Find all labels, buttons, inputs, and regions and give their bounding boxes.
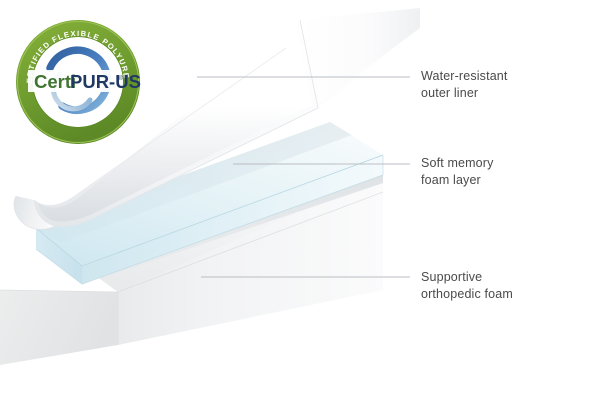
certipur-us-badge: CONTAINS CERTIFIED FLEXIBLE POLYURETHANE… [14,18,142,146]
base-left-face [0,290,118,365]
callout-label-orthopedic-foam: Supportive orthopedic foam [421,269,513,303]
badge-registered-mark: ® [118,74,123,82]
liner-right-edge [300,8,420,104]
callout-label-outer-liner: Water-resistant outer liner [421,68,508,102]
badge-wordmark-pur-us: PUR-US [70,71,141,92]
badge-wordmark: Certi PUR-US ® [34,71,141,92]
callout-label-memory-foam: Soft memory foam layer [421,155,494,189]
mattress-layers-infographic: CONTAINS CERTIFIED FLEXIBLE POLYURETHANE… [0,0,600,400]
